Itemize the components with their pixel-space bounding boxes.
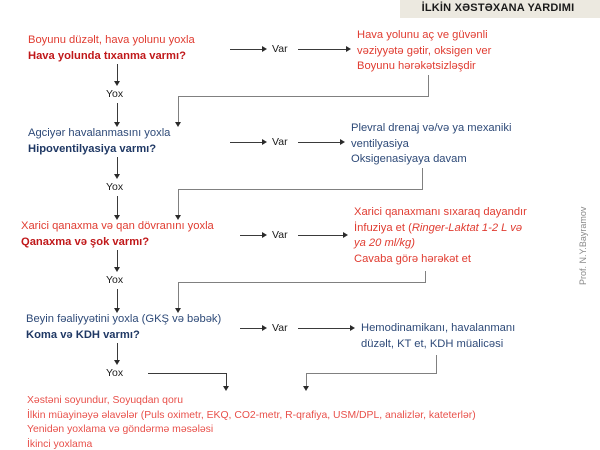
label-breathing-yes: Var xyxy=(272,136,288,148)
arrow-down-summary-left-icon xyxy=(223,386,229,391)
summary-block: Xəstəni soyundur, Soyuqdan qoru İlkin mü… xyxy=(27,394,476,450)
connector-disability-action-left xyxy=(306,373,437,374)
connector-circulation-yes-to-action xyxy=(298,235,343,236)
connector-summary-down-left xyxy=(226,373,227,387)
connector-breathing-yes-to-action xyxy=(298,142,340,143)
step-circulation-action-dose: ya 20 ml/kg) xyxy=(354,236,527,252)
step-airway-action-line3: Boyunu hərəkətsizləşdir xyxy=(357,59,491,75)
connector-circulation-action-down xyxy=(425,271,426,282)
arrow-down-airway-no-icon xyxy=(114,81,120,86)
arrow-right-airway-yes-icon xyxy=(262,46,267,52)
connector-breathing-action-left xyxy=(178,189,423,190)
step-airway-question: Boyunu düzəlt, hava yolunu yoxla Hava yo… xyxy=(28,33,195,64)
connector-breathing-no-b xyxy=(117,196,118,216)
arrow-down-breathing-no-icon xyxy=(114,174,120,179)
connector-airway-action-rejoin xyxy=(178,96,179,123)
connector-disability-action-down xyxy=(436,355,437,373)
step-disability-question-line1: Beyin fəaliyyətini yoxla (GKŞ və bəbək) xyxy=(26,312,221,328)
connector-breathing-action-rejoin xyxy=(178,189,179,216)
step-breathing-action-line1: Plevral drenaj və/və ya mexaniki xyxy=(351,121,511,137)
arrow-down-summary-right-icon xyxy=(303,386,309,391)
step-airway-question-line2: Hava yolunda tıxanma varmı? xyxy=(28,49,195,65)
step-airway-action: Hava yolunu aç ve güvənli vəziyyətə gəti… xyxy=(357,28,491,75)
connector-airway-to-yes xyxy=(230,49,262,50)
summary-line-4: İkinci yoxlama xyxy=(27,438,476,450)
step-disability-question-line2: Koma və KDH varmı? xyxy=(26,328,221,344)
flowchart-canvas: İLKİN XƏSTƏXANA YARDIMI Boyunu düzəlt, h… xyxy=(0,0,600,450)
label-airway-yes: Var xyxy=(272,43,288,55)
arrow-right-breathing-yes-icon xyxy=(262,139,267,145)
connector-summary-down-right xyxy=(306,373,307,387)
arrow-right-breathing-action-icon xyxy=(340,139,345,145)
summary-line-1: Xəstəni soyundur, Soyuqdan qoru xyxy=(27,394,476,409)
arrow-right-disability-yes-icon xyxy=(262,325,267,331)
step-disability-question: Beyin fəaliyyətini yoxla (GKŞ və bəbək) … xyxy=(26,312,221,343)
step-disability-action: Hemodinamikanı, havalanmanı düzəlt, KT e… xyxy=(361,321,515,352)
label-circulation-yes: Var xyxy=(272,229,288,241)
step-circulation-action-infusion-label: İnfuziya et ( xyxy=(354,222,412,234)
connector-circulation-to-yes xyxy=(240,235,262,236)
step-circulation-question-line1: Xarici qanaxma və qan dövranını yoxla xyxy=(21,219,214,235)
step-disability-action-line1: Hemodinamikanı, havalanmanı xyxy=(361,321,515,337)
step-circulation-action-line1: Xarici qanaxmanı sıxaraq dayandır xyxy=(354,205,527,221)
label-circulation-no: Yox xyxy=(106,274,123,286)
connector-airway-no-a xyxy=(117,64,118,82)
connector-breathing-action-down xyxy=(422,168,423,189)
summary-line-3: Yenidən yoxlama və göndərmə məsələsi xyxy=(27,423,476,438)
step-circulation-question: Xarici qanaxma və qan dövranını yoxla Qa… xyxy=(21,219,214,250)
step-breathing-question: Agciyər havalanmasını yoxla Hipoventilya… xyxy=(28,126,170,157)
arrow-right-disability-action-icon xyxy=(350,325,355,331)
step-breathing-question-line1: Agciyər havalanmasını yoxla xyxy=(28,126,170,142)
connector-airway-action-left xyxy=(178,96,429,97)
connector-disability-no-a xyxy=(117,343,118,361)
summary-line-2: İlkin müayinəyə əlavələr (Puls oximetr, … xyxy=(27,409,476,424)
connector-airway-yes-to-action xyxy=(298,49,346,50)
step-circulation-action: Xarici qanaxmanı sıxaraq dayandır İnfuzi… xyxy=(354,205,527,267)
connector-circulation-no-a xyxy=(117,250,118,268)
arrow-right-circulation-action-icon xyxy=(343,232,348,238)
author-credit: Prof. N.Y.Bayramov xyxy=(578,207,588,285)
connector-disability-yes-to-action xyxy=(298,328,350,329)
arrow-down-airway-rejoin-icon xyxy=(175,122,181,127)
label-disability-no: Yox xyxy=(106,367,123,379)
step-airway-action-line1: Hava yolunu aç ve güvənli xyxy=(357,28,491,44)
label-disability-yes: Var xyxy=(272,322,288,334)
label-airway-no: Yox xyxy=(106,88,123,100)
connector-disability-no-to-summary xyxy=(148,373,226,374)
step-circulation-action-drug: Ringer-Laktat 1-2 L və xyxy=(412,222,522,234)
step-breathing-action-line3: Oksigenasiyaya davam xyxy=(351,152,511,168)
step-circulation-question-line2: Qanaxma və şok varmı? xyxy=(21,235,214,251)
step-circulation-action-line2: İnfuziya et (Ringer-Laktat 1-2 L və xyxy=(354,221,527,237)
connector-circulation-no-b xyxy=(117,289,118,309)
connector-disability-to-yes xyxy=(240,328,262,329)
connector-circulation-action-left xyxy=(178,282,426,283)
arrow-right-circulation-yes-icon xyxy=(262,232,267,238)
step-airway-action-line2: vəziyyətə gətir, oksigen ver xyxy=(357,44,491,60)
arrow-right-airway-action-icon xyxy=(346,46,351,52)
step-breathing-question-line2: Hipoventilyasiya varmı? xyxy=(28,142,170,158)
step-breathing-action-line2: ventilyasiya xyxy=(351,137,511,153)
page-title: İLKİN XƏSTƏXANA YARDIMI xyxy=(400,2,596,14)
connector-circulation-action-rejoin xyxy=(178,282,179,309)
step-breathing-action: Plevral drenaj və/və ya mexaniki ventily… xyxy=(351,121,511,168)
step-disability-action-line2: düzəlt, KT et, KDH müalicəsi xyxy=(361,337,515,353)
step-airway-question-line1: Boyunu düzəlt, hava yolunu yoxla xyxy=(28,33,195,49)
connector-breathing-to-yes xyxy=(230,142,262,143)
connector-breathing-no-a xyxy=(117,157,118,175)
label-breathing-no: Yox xyxy=(106,181,123,193)
connector-airway-no-b xyxy=(117,103,118,123)
connector-airway-action-down xyxy=(428,75,429,96)
arrow-down-disability-no-icon xyxy=(114,360,120,365)
step-circulation-action-line3: Cavaba görə hərəkət et xyxy=(354,252,527,268)
arrow-down-circulation-no-icon xyxy=(114,267,120,272)
